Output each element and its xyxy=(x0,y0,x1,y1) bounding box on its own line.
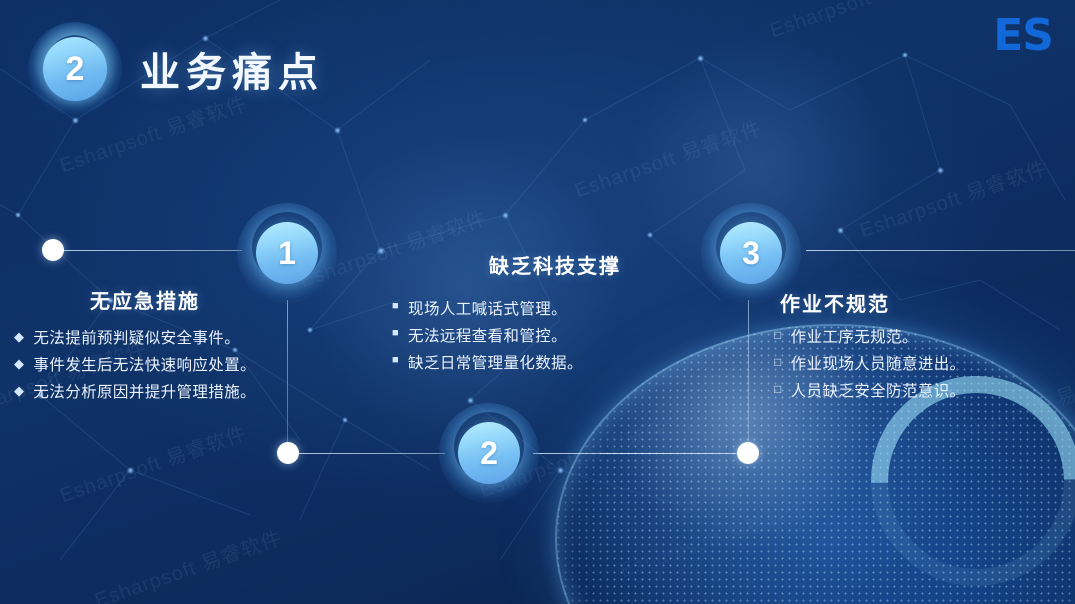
section-number-badge-core: 2 xyxy=(43,37,107,101)
connector-line-top-right xyxy=(806,250,1075,251)
diamond-bullet-icon: ◆ xyxy=(14,326,24,348)
connector-line-bottom-left xyxy=(299,453,445,454)
step-marker-2[interactable]: 2 xyxy=(439,403,539,503)
section-number-badge: 2 xyxy=(28,22,122,116)
timeline-dot-mid-left xyxy=(277,442,299,464)
page-title: 业务痛点 xyxy=(140,40,324,98)
connector-line-top-left xyxy=(64,250,242,251)
list-item-text: 作业工序无规范。 xyxy=(791,325,1070,351)
list-item: ◆ 无法分析原因并提升管理措施。 xyxy=(14,380,276,406)
list-item: □ 人员缺乏安全防范意识。 xyxy=(774,379,1070,405)
content-column-2: 缺乏科技支撑 ■ 现场人工喊话式管理。 ■ 无法远程查看和管控。 ■ 缺乏日常管… xyxy=(392,250,712,378)
slide-canvas: Esharpsoft 易睿软件 Esharpsoft 易睿软件 Esharpso… xyxy=(0,0,1075,604)
list-item-text: 无法远程查看和管控。 xyxy=(408,324,712,350)
column-list-1: ◆ 无法提前预判疑似安全事件。 ◆ 事件发生后无法快速响应处置。 ◆ 无法分析原… xyxy=(14,326,276,406)
list-item: ◆ 事件发生后无法快速响应处置。 xyxy=(14,353,276,379)
square-bullet-icon: ■ xyxy=(392,351,399,369)
step-marker-core: 1 xyxy=(256,222,318,284)
list-item: ■ 缺乏日常管理量化数据。 xyxy=(392,351,712,377)
watermark: Esharpsoft 易睿软件 xyxy=(855,152,1050,243)
network-node xyxy=(502,212,509,219)
column-list-3: □ 作业工序无规范。 □ 作业现场人员随意进出。 □ 人员缺乏安全防范意识。 xyxy=(760,325,1070,405)
connector-line-globe xyxy=(600,453,736,454)
slide-header: 2 业务痛点 ES xyxy=(0,0,1075,140)
hollow-square-bullet-icon: □ xyxy=(774,352,782,372)
network-node xyxy=(377,247,385,255)
content-column-3: 作业不规范 □ 作业工序无规范。 □ 作业现场人员随意进出。 □ 人员缺乏安全防… xyxy=(760,288,1070,406)
list-item-text: 人员缺乏安全防范意识。 xyxy=(791,379,1070,405)
list-item-text: 作业现场人员随意进出。 xyxy=(791,352,1070,378)
list-item: ■ 现场人工喊话式管理。 xyxy=(392,297,712,323)
watermark: Esharpsoft 易睿软件 xyxy=(55,417,250,508)
hollow-square-bullet-icon: □ xyxy=(774,379,782,399)
square-bullet-icon: ■ xyxy=(392,297,399,315)
section-number-text: 2 xyxy=(66,52,85,86)
list-item-text: 现场人工喊话式管理。 xyxy=(408,297,712,323)
list-item: ■ 无法远程查看和管控。 xyxy=(392,324,712,350)
step-marker-number: 2 xyxy=(480,437,498,469)
diamond-bullet-icon: ◆ xyxy=(14,380,24,402)
step-marker-number: 1 xyxy=(278,237,296,269)
timeline-dot-mid-right xyxy=(737,442,759,464)
column-heading-2: 缺乏科技支撑 xyxy=(392,250,712,279)
step-marker-core: 3 xyxy=(720,222,782,284)
diamond-bullet-icon: ◆ xyxy=(14,353,24,375)
column-list-2: ■ 现场人工喊话式管理。 ■ 无法远程查看和管控。 ■ 缺乏日常管理量化数据。 xyxy=(392,297,712,377)
network-node xyxy=(307,327,313,333)
network-node xyxy=(127,467,134,474)
network-node xyxy=(342,417,348,423)
column-heading-1: 无应急措施 xyxy=(14,285,276,314)
watermark: Esharpsoft 易睿软件 xyxy=(615,492,810,583)
network-node xyxy=(15,212,21,218)
watermark: Esharpsoft 易睿软件 xyxy=(90,522,285,604)
list-item: □ 作业现场人员随意进出。 xyxy=(774,352,1070,378)
list-item: □ 作业工序无规范。 xyxy=(774,325,1070,351)
step-marker-number: 3 xyxy=(742,237,760,269)
step-marker-core: 2 xyxy=(458,422,520,484)
brand-logo: ES xyxy=(993,10,1053,61)
square-bullet-icon: ■ xyxy=(392,324,399,342)
network-node xyxy=(937,167,944,174)
list-item: ◆ 无法提前预判疑似安全事件。 xyxy=(14,326,276,352)
content-column-1: 无应急措施 ◆ 无法提前预判疑似安全事件。 ◆ 事件发生后无法快速响应处置。 ◆… xyxy=(14,285,276,407)
column-heading-3: 作业不规范 xyxy=(760,288,1070,317)
network-node xyxy=(557,467,564,474)
connector-line-vertical-2 xyxy=(748,300,749,445)
network-node xyxy=(837,227,844,234)
timeline-dot-left xyxy=(42,239,64,261)
list-item-text: 缺乏日常管理量化数据。 xyxy=(408,351,712,377)
hollow-square-bullet-icon: □ xyxy=(774,325,782,345)
network-node xyxy=(647,232,653,238)
list-item-text: 无法提前预判疑似安全事件。 xyxy=(33,326,276,352)
list-item-text: 事件发生后无法快速响应处置。 xyxy=(33,353,276,379)
connector-line-vertical-1 xyxy=(287,300,288,445)
list-item-text: 无法分析原因并提升管理措施。 xyxy=(33,380,276,406)
